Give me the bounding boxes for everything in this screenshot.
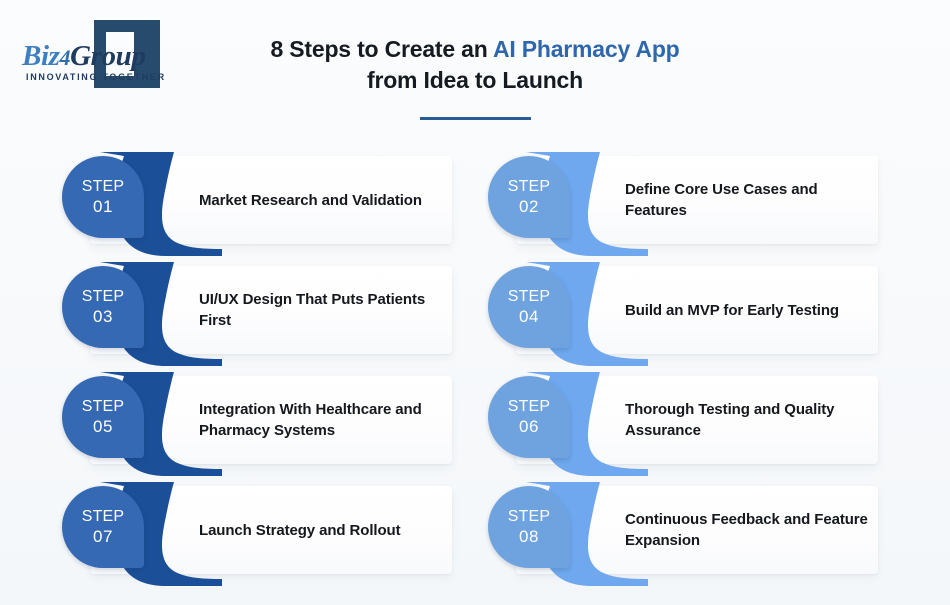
step-badge-word: STEP: [508, 177, 551, 197]
step-badge-number: 01: [93, 197, 113, 217]
step-number-badge: STEP05: [62, 376, 144, 458]
steps-grid: STEP01Market Research and ValidationSTEP…: [0, 140, 950, 605]
step-number-badge: STEP07: [62, 486, 144, 568]
step-title: Market Research and Validation: [199, 156, 447, 244]
brand-logo: Biz4Group INNOVATING TOGETHER: [22, 20, 182, 90]
step-title: Launch Strategy and Rollout: [199, 486, 447, 574]
title-underline-rule: [420, 117, 531, 120]
step-badge-word: STEP: [508, 397, 551, 417]
step-badge-number: 07: [93, 527, 113, 547]
step-title: Define Core Use Cases and Features: [625, 156, 873, 244]
step-number-badge: STEP08: [488, 486, 570, 568]
step-number-badge: STEP03: [62, 266, 144, 348]
step-title: Continuous Feedback and Feature Expansio…: [625, 486, 873, 574]
step-badge-word: STEP: [508, 507, 551, 527]
step-card[interactable]: STEP06Thorough Testing and Quality Assur…: [488, 368, 878, 464]
step-card[interactable]: STEP01Market Research and Validation: [62, 148, 452, 244]
step-title: UI/UX Design That Puts Patients First: [199, 266, 447, 354]
step-card[interactable]: STEP08Continuous Feedback and Feature Ex…: [488, 478, 878, 574]
step-badge-word: STEP: [82, 397, 125, 417]
step-number-badge: STEP04: [488, 266, 570, 348]
step-badge-number: 03: [93, 307, 113, 327]
title-accent-text: AI Pharmacy App: [493, 36, 680, 62]
step-title: Thorough Testing and Quality Assurance: [625, 376, 873, 464]
page-title: 8 Steps to Create an AI Pharmacy App fro…: [225, 34, 725, 96]
step-badge-number: 08: [519, 527, 539, 547]
step-badge-word: STEP: [508, 287, 551, 307]
step-badge-number: 05: [93, 417, 113, 437]
step-card[interactable]: STEP03UI/UX Design That Puts Patients Fi…: [62, 258, 452, 354]
step-badge-word: STEP: [82, 177, 125, 197]
logo-text-four: 4: [60, 45, 71, 70]
step-number-badge: STEP02: [488, 156, 570, 238]
logo-wordmark: Biz4Group: [22, 41, 152, 73]
step-badge-number: 04: [519, 307, 539, 327]
step-number-badge: STEP01: [62, 156, 144, 238]
step-number-badge: STEP06: [488, 376, 570, 458]
step-card[interactable]: STEP07Launch Strategy and Rollout: [62, 478, 452, 574]
step-badge-word: STEP: [82, 507, 125, 527]
title-plain-text: 8 Steps to Create an: [270, 36, 492, 62]
step-badge-number: 06: [519, 417, 539, 437]
header: Biz4Group INNOVATING TOGETHER 8 Steps to…: [0, 0, 950, 140]
title-line-2: from Idea to Launch: [225, 65, 725, 96]
step-badge-number: 02: [519, 197, 539, 217]
step-badge-word: STEP: [82, 287, 125, 307]
step-title: Integration With Healthcare and Pharmacy…: [199, 376, 447, 464]
logo-text-biz: Biz: [22, 40, 60, 72]
logo-text-group: Group: [70, 40, 145, 72]
infographic-page: Biz4Group INNOVATING TOGETHER 8 Steps to…: [0, 0, 950, 605]
step-card[interactable]: STEP02Define Core Use Cases and Features: [488, 148, 878, 244]
step-title: Build an MVP for Early Testing: [625, 266, 873, 354]
step-card[interactable]: STEP05Integration With Healthcare and Ph…: [62, 368, 452, 464]
title-line-1: 8 Steps to Create an AI Pharmacy App: [225, 34, 725, 65]
logo-tagline: INNOVATING TOGETHER: [26, 72, 166, 82]
step-card[interactable]: STEP04Build an MVP for Early Testing: [488, 258, 878, 354]
